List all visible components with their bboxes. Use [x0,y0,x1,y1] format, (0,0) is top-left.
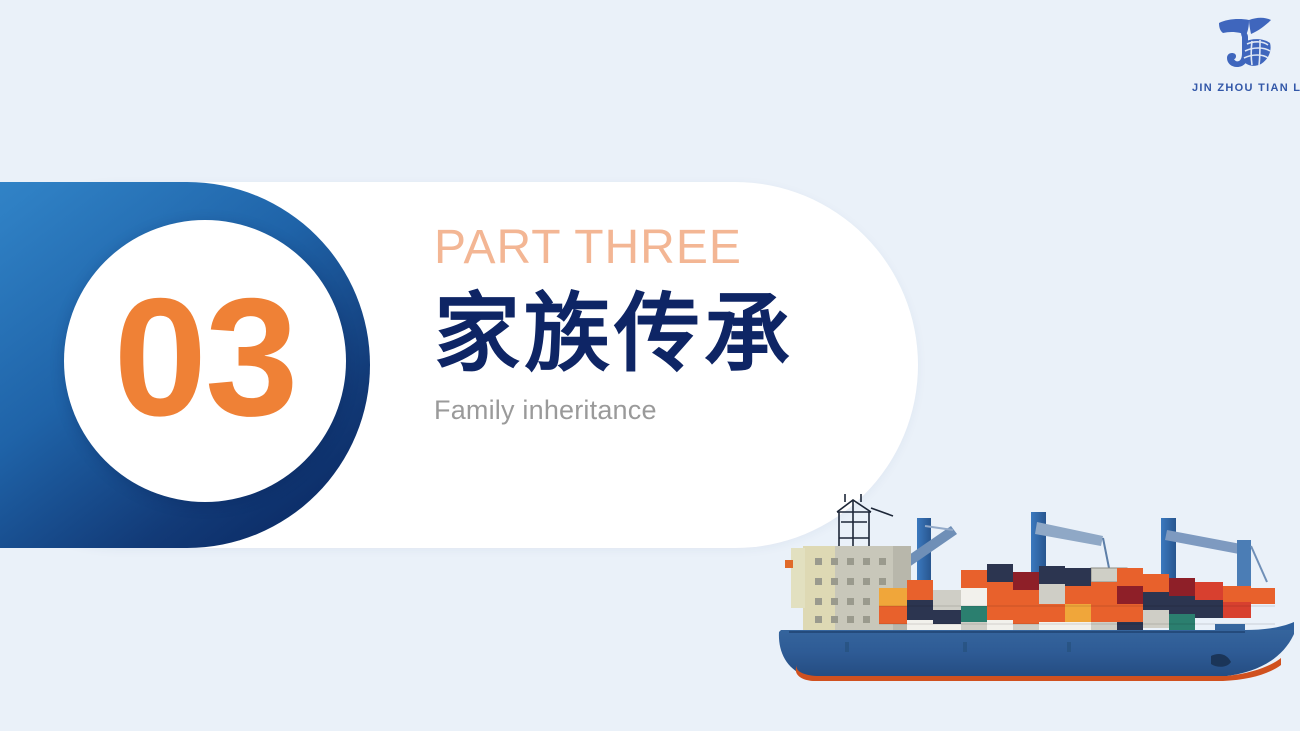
container-ship-illustration [775,482,1300,712]
section-subtitle-en: Family inheritance [434,395,904,426]
slide-root: JIN ZHOU TIAN LI 03 PART THREE 家族传承 Fami… [0,0,1300,731]
section-number: 03 [114,273,297,441]
part-label: PART THREE [434,222,904,274]
section-text-block: PART THREE 家族传承 Family inheritance [434,222,904,426]
section-title-cn: 家族传承 [434,288,904,381]
logo-wordmark: JIN ZHOU TIAN LI [1192,82,1300,94]
sail-mark-icon [1211,14,1281,76]
company-logo: JIN ZHOU TIAN LI [1192,12,1300,108]
section-number-badge: 03 [64,220,346,502]
container-ship-image [775,482,1300,712]
